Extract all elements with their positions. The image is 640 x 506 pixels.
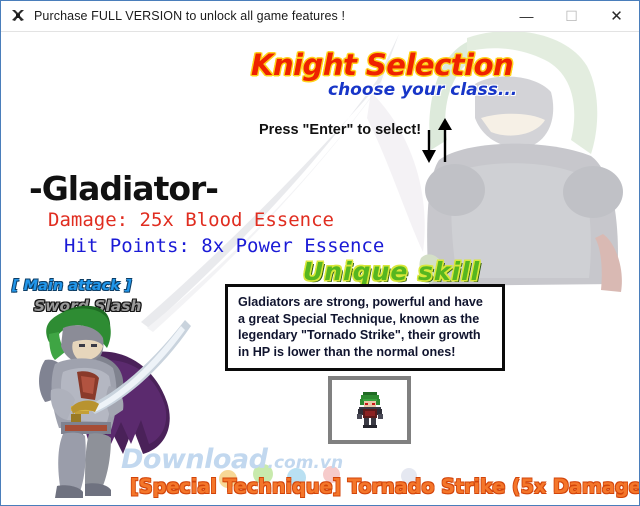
stat-damage: Damage: 25x Blood Essence (48, 209, 334, 231)
page-subtitle: choose your class... (328, 80, 517, 100)
title-bar: Purchase FULL VERSION to unlock all game… (1, 1, 639, 32)
stat-hit-points: Hit Points: 8x Power Essence (64, 235, 384, 257)
maximize-icon: ☐ (565, 9, 578, 23)
gladiator-sprite-icon (354, 390, 386, 430)
down-arrow-icon (422, 130, 436, 163)
minimize-button[interactable]: — (504, 1, 549, 31)
unique-skill-label: Unique skill (303, 257, 480, 286)
page-title: Knight Selection (251, 48, 513, 82)
main-attack-label: [ Main attack ] (12, 278, 132, 294)
up-arrow-icon (438, 118, 452, 162)
class-description-text: Gladiators are strong, powerful and have… (238, 294, 493, 360)
game-app-icon (10, 8, 26, 24)
sprite-preview-box[interactable] (328, 376, 411, 444)
gladiator-portrait (15, 294, 220, 499)
close-icon: ✕ (610, 9, 623, 24)
close-button[interactable]: ✕ (594, 1, 639, 31)
game-canvas[interactable]: Knight Selection choose your class... Pr… (1, 32, 639, 505)
maximize-button[interactable]: ☐ (549, 1, 594, 31)
application-window: Purchase FULL VERSION to unlock all game… (0, 0, 640, 506)
class-name: -Gladiator- (29, 169, 218, 208)
minimize-icon: — (520, 9, 534, 23)
window-title: Purchase FULL VERSION to unlock all game… (34, 9, 345, 23)
navigation-arrows[interactable] (420, 116, 456, 164)
special-technique-banner: [Special Technique] Tornado Strike (5x D… (130, 475, 639, 498)
class-description-box: Gladiators are strong, powerful and have… (225, 284, 505, 371)
instruction-text: Press "Enter" to select! (259, 122, 421, 138)
